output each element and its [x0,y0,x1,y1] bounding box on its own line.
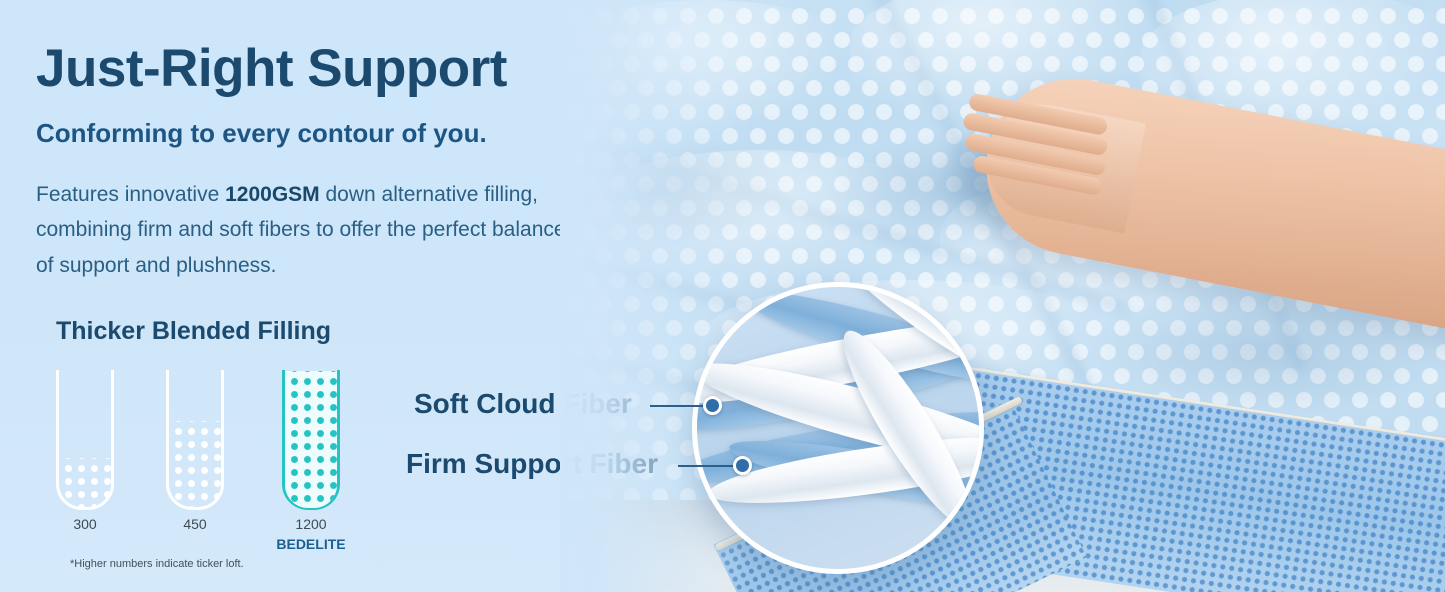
promo-banner: Soft Cloud Fiber Firm Support Fiber Just… [0,0,1445,592]
tube-1200: 1200 BEDELITE [282,370,340,510]
tube-fill [285,371,337,508]
callout-dot [703,396,722,415]
body-paragraph: Features innovative 1200GSM down alterna… [36,177,581,283]
filling-chart-title: Thicker Blended Filling [56,317,331,346]
filling-chart: 300 450 1200 BEDELITE [56,370,356,520]
callout-soft-cloud-fiber: Soft Cloud Fiber [414,388,632,420]
tube-label: 300 [56,516,114,532]
callout-dot [733,456,752,475]
tube-label: 450 [166,516,224,532]
tube-fill [59,458,111,508]
tube-fill [169,421,221,508]
fill-dots [285,371,337,508]
body-text-before: Features innovative [36,183,225,206]
page-subtitle: Conforming to every contour of you. [36,118,487,149]
fill-dots [59,458,111,508]
page-title: Just-Right Support [36,42,507,95]
tube-450: 450 [166,370,224,510]
fiber-closeup-inset [692,282,984,574]
callout-leader-line [678,465,740,467]
tube-300: 300 [56,370,114,510]
fill-dots [169,421,221,508]
mattress-photo [560,0,1445,592]
brand-label: BEDELITE [256,536,366,552]
body-text-highlight: 1200GSM [225,183,320,206]
callout-leader-line [650,405,710,407]
tube-label: 1200 [282,516,340,532]
callout-firm-support-fiber: Firm Support Fiber [406,448,658,480]
chart-footnote: *Higher numbers indicate ticker loft. [70,558,244,570]
